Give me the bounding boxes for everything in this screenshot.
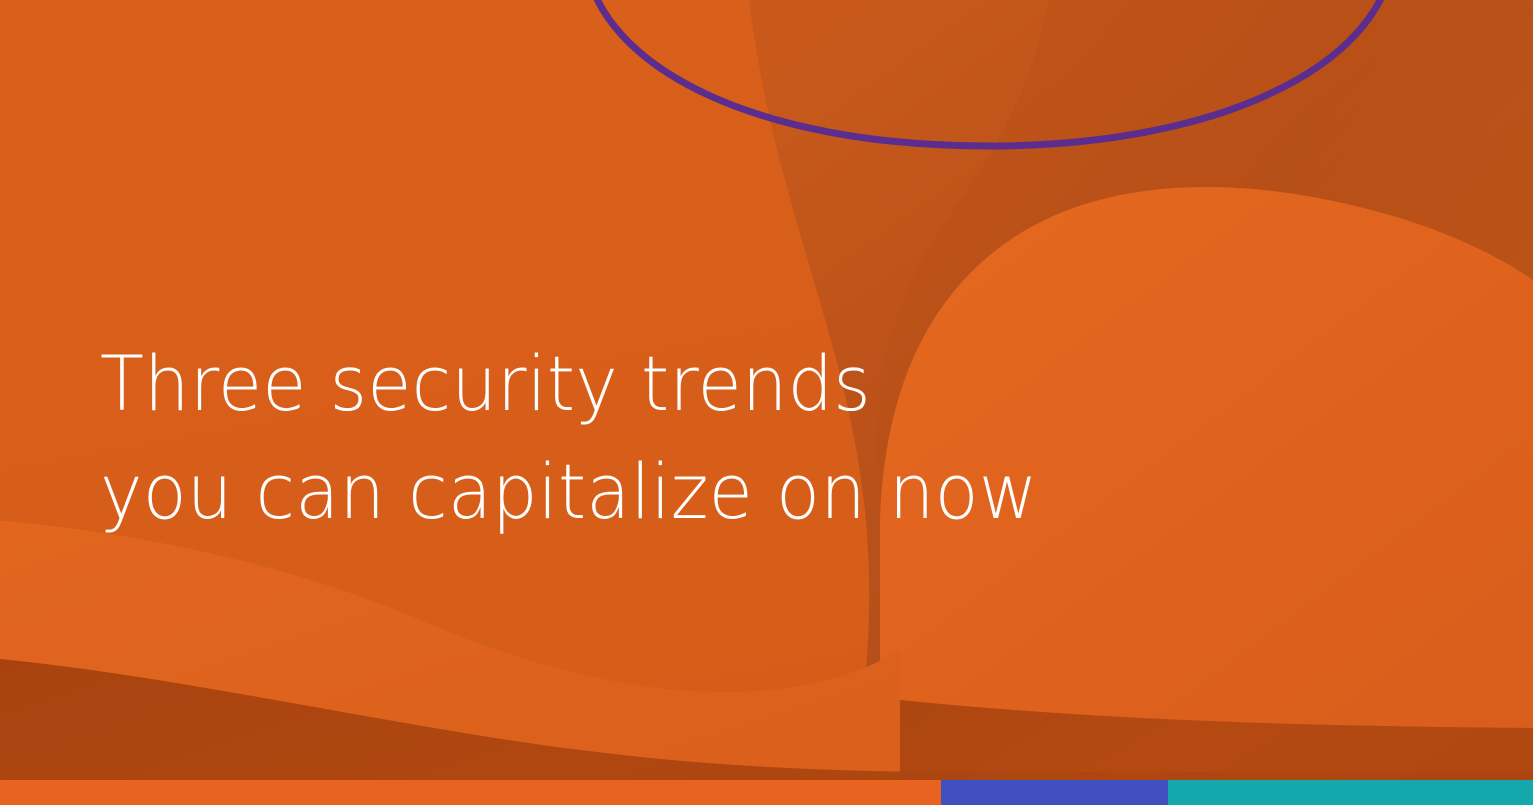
- bottom-bar-teal-segment: [1168, 780, 1533, 805]
- bottom-bar-blue-segment: [941, 780, 1168, 805]
- background-artwork: [0, 0, 1533, 805]
- bottom-bar-orange-segment: [0, 780, 941, 805]
- bottom-accent-bar: [0, 780, 1533, 805]
- presentation-slide: Three security trends you can capitalize…: [0, 0, 1533, 805]
